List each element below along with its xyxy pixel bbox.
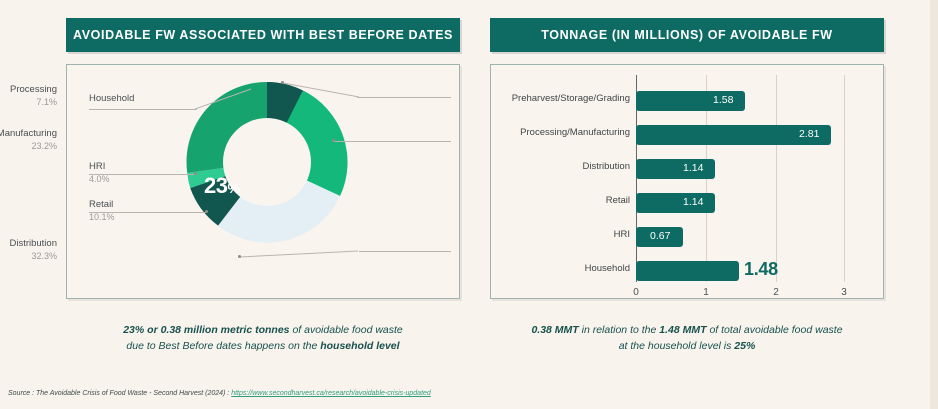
bar-value-label: 1.14 [683,162,703,174]
right-caption-bold-2: 1.48 MMT [659,324,706,336]
source-prefix: Source : The Avoidable Crisis of Food Wa… [8,390,231,397]
donut-chart-container: 23% Household HRI 4.0% [66,64,460,299]
bar-gridline-2 [776,75,777,282]
donut-chart: 23% Household HRI 4.0% [67,65,459,298]
left-caption-bold-2: household level [320,340,399,352]
bar-gridline-3 [844,75,845,282]
donut-leader-line-processing [283,81,361,103]
x-tick-1: 1 [703,287,709,298]
source-line: Source : The Avoidable Crisis of Food Wa… [8,390,431,397]
bar-category-label: Processing/Manufacturing [520,127,630,138]
source-link[interactable]: https://www.secondharvest.ca/research/av… [231,390,431,397]
donut-leader-line-distribution [240,243,360,261]
donut-hole [223,118,311,206]
right-caption-bold-1: 0.38 MMT [531,324,578,336]
bar-category-label: Preharvest/Storage/Grading [512,93,630,104]
left-panel: AVOIDABLE FW ASSOCIATED WITH BEST BEFORE… [66,18,460,299]
bar-category-label: Retail [606,195,630,206]
x-tick-3: 3 [841,287,847,298]
right-panel-title: TONNAGE (IN MILLIONS) OF AVOIDABLE FW [490,18,884,52]
bar-value-label: 1.58 [713,94,733,106]
bar-value-label: 1.14 [683,196,703,208]
bar-chart: Preharvest/Storage/Grading 1.58 Processi… [491,65,883,298]
right-caption-text-1: in relation to the [579,324,660,336]
bar-value-label-household: 1.48 [744,259,778,280]
right-caption-text-3: at the household level is [619,340,735,352]
left-caption-text-2: due to Best Before dates happens on the [126,340,320,352]
x-tick-2: 2 [773,287,779,298]
left-panel-title: AVOIDABLE FW ASSOCIATED WITH BEST BEFORE… [66,18,460,52]
right-caption: 0.38 MMT in relation to the 1.48 MMT of … [490,322,884,354]
right-edge-strip [930,0,938,409]
bar-category-label: Household [585,263,630,274]
donut-leader-line-household [195,87,253,115]
left-caption: 23% or 0.38 million metric tonnes of avo… [66,322,460,354]
bar-chart-container: Preharvest/Storage/Grading 1.58 Processi… [490,64,884,299]
bar-category-label: HRI [614,229,630,240]
left-caption-bold-1: 23% or 0.38 million metric tonnes [123,324,289,336]
right-caption-text-2: of total avoidable food waste [707,324,843,336]
right-panel: TONNAGE (IN MILLIONS) OF AVOIDABLE FW Pr… [490,18,884,299]
bar-value-label: 2.81 [799,128,819,140]
right-caption-bold-3: 25% [734,340,755,352]
bar-value-label: 0.67 [650,230,670,242]
bar-category-label: Distribution [582,161,630,172]
bar-household[interactable] [636,261,739,281]
left-caption-text-1: of avoidable food waste [290,324,403,336]
x-tick-0: 0 [633,287,639,298]
infographic-root: AVOIDABLE FW ASSOCIATED WITH BEST BEFORE… [0,0,938,409]
